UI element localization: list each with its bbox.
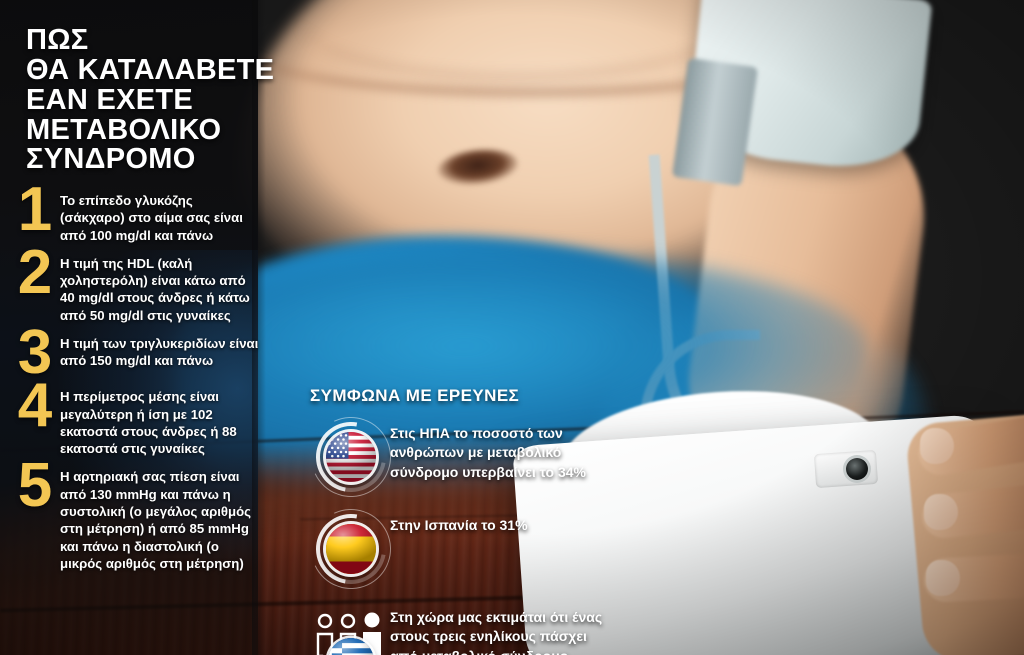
title-line-4: ΜΕΤΑΒΟΛΙΚΟ xyxy=(26,116,258,146)
list-item: 4 Η περίμετρος μέσης είναι μεγαλύτερη ή … xyxy=(16,386,260,457)
research-heading: ΣΥΜΦΩΝΑ ΜΕ ΕΡΕΥΝΕΣ xyxy=(310,386,610,406)
spain-flag-svg xyxy=(326,524,376,574)
title-line-1: ΠΩΣ xyxy=(26,26,258,56)
spain-flag-badge xyxy=(326,524,376,574)
criterion-number: 2 xyxy=(16,249,54,297)
criterion-text: Το επίπεδο γλυκόζης (σάκχαρο) στο αίμα σ… xyxy=(54,190,260,244)
usa-flag-icon xyxy=(310,422,390,500)
criterion-number: 4 xyxy=(16,382,54,430)
criterion-number: 3 xyxy=(16,329,54,377)
title-line-2: ΘΑ ΚΑΤΑΛΑΒΕΤΕ xyxy=(26,56,258,86)
criteria-list: 1 Το επίπεδο γλυκόζης (σάκχαρο) στο αίμα… xyxy=(16,190,260,581)
stat-row-usa: Στις ΗΠΑ το ποσοστό των ανθρώπων με μετα… xyxy=(310,422,610,500)
list-item: 2 Η τιμή της HDL (καλή χοληστερόλη) είνα… xyxy=(16,253,260,324)
criterion-text: Η περίμετρος μέσης είναι μεγαλύτερη ή ίσ… xyxy=(54,386,260,457)
stat-row-greece: Στη χώρα μας εκτιμάται ότι ένας στους τρ… xyxy=(310,606,610,655)
criterion-number: 5 xyxy=(16,462,54,510)
usa-flag-badge xyxy=(326,432,376,482)
list-item: 3 Η τιμή των τριγλυκεριδίων είναι από 15… xyxy=(16,333,260,377)
title-line-5: ΣΥΝΔΡΟΜΟ xyxy=(26,145,258,175)
research-section: ΣΥΜΦΩΝΑ ΜΕ ΕΡΕΥΝΕΣ xyxy=(310,386,610,655)
stat-text-greece: Στη χώρα μας εκτιμάται ότι ένας στους τρ… xyxy=(390,606,610,655)
greece-flag-icon xyxy=(310,606,390,655)
criterion-text: Η τιμή της HDL (καλή χοληστερόλη) είναι … xyxy=(54,253,260,324)
stat-text-usa: Στις ΗΠΑ το ποσοστό των ανθρώπων με μετα… xyxy=(390,422,610,482)
title-line-3: ΕΑΝ ΕΧΕΤΕ xyxy=(26,86,258,116)
list-item: 5 Η αρτηριακή σας πίεση είναι από 130 mm… xyxy=(16,466,260,572)
list-item: 1 Το επίπεδο γλυκόζης (σάκχαρο) στο αίμα… xyxy=(16,190,260,244)
criterion-text: Η αρτηριακή σας πίεση είναι από 130 mmHg… xyxy=(54,466,260,572)
criterion-text: Η τιμή των τριγλυκεριδίων είναι από 150 … xyxy=(54,333,260,370)
spain-flag-icon xyxy=(310,514,390,592)
stat-text-spain: Στην Ισπανία το 31% xyxy=(390,514,610,535)
usa-flag-svg xyxy=(326,432,376,482)
page-title: ΠΩΣ ΘΑ ΚΑΤΑΛΑΒΕΤΕ ΕΑΝ ΕΧΕΤΕ ΜΕΤΑΒΟΛΙΚΟ Σ… xyxy=(26,26,258,175)
criterion-number: 1 xyxy=(16,186,54,234)
stat-row-spain: Στην Ισπανία το 31% xyxy=(310,514,610,592)
infographic-poster: ΠΩΣ ΘΑ ΚΑΤΑΛΑΒΕΤΕ ΕΑΝ ΕΧΕΤΕ ΜΕΤΑΒΟΛΙΚΟ Σ… xyxy=(0,0,1024,655)
